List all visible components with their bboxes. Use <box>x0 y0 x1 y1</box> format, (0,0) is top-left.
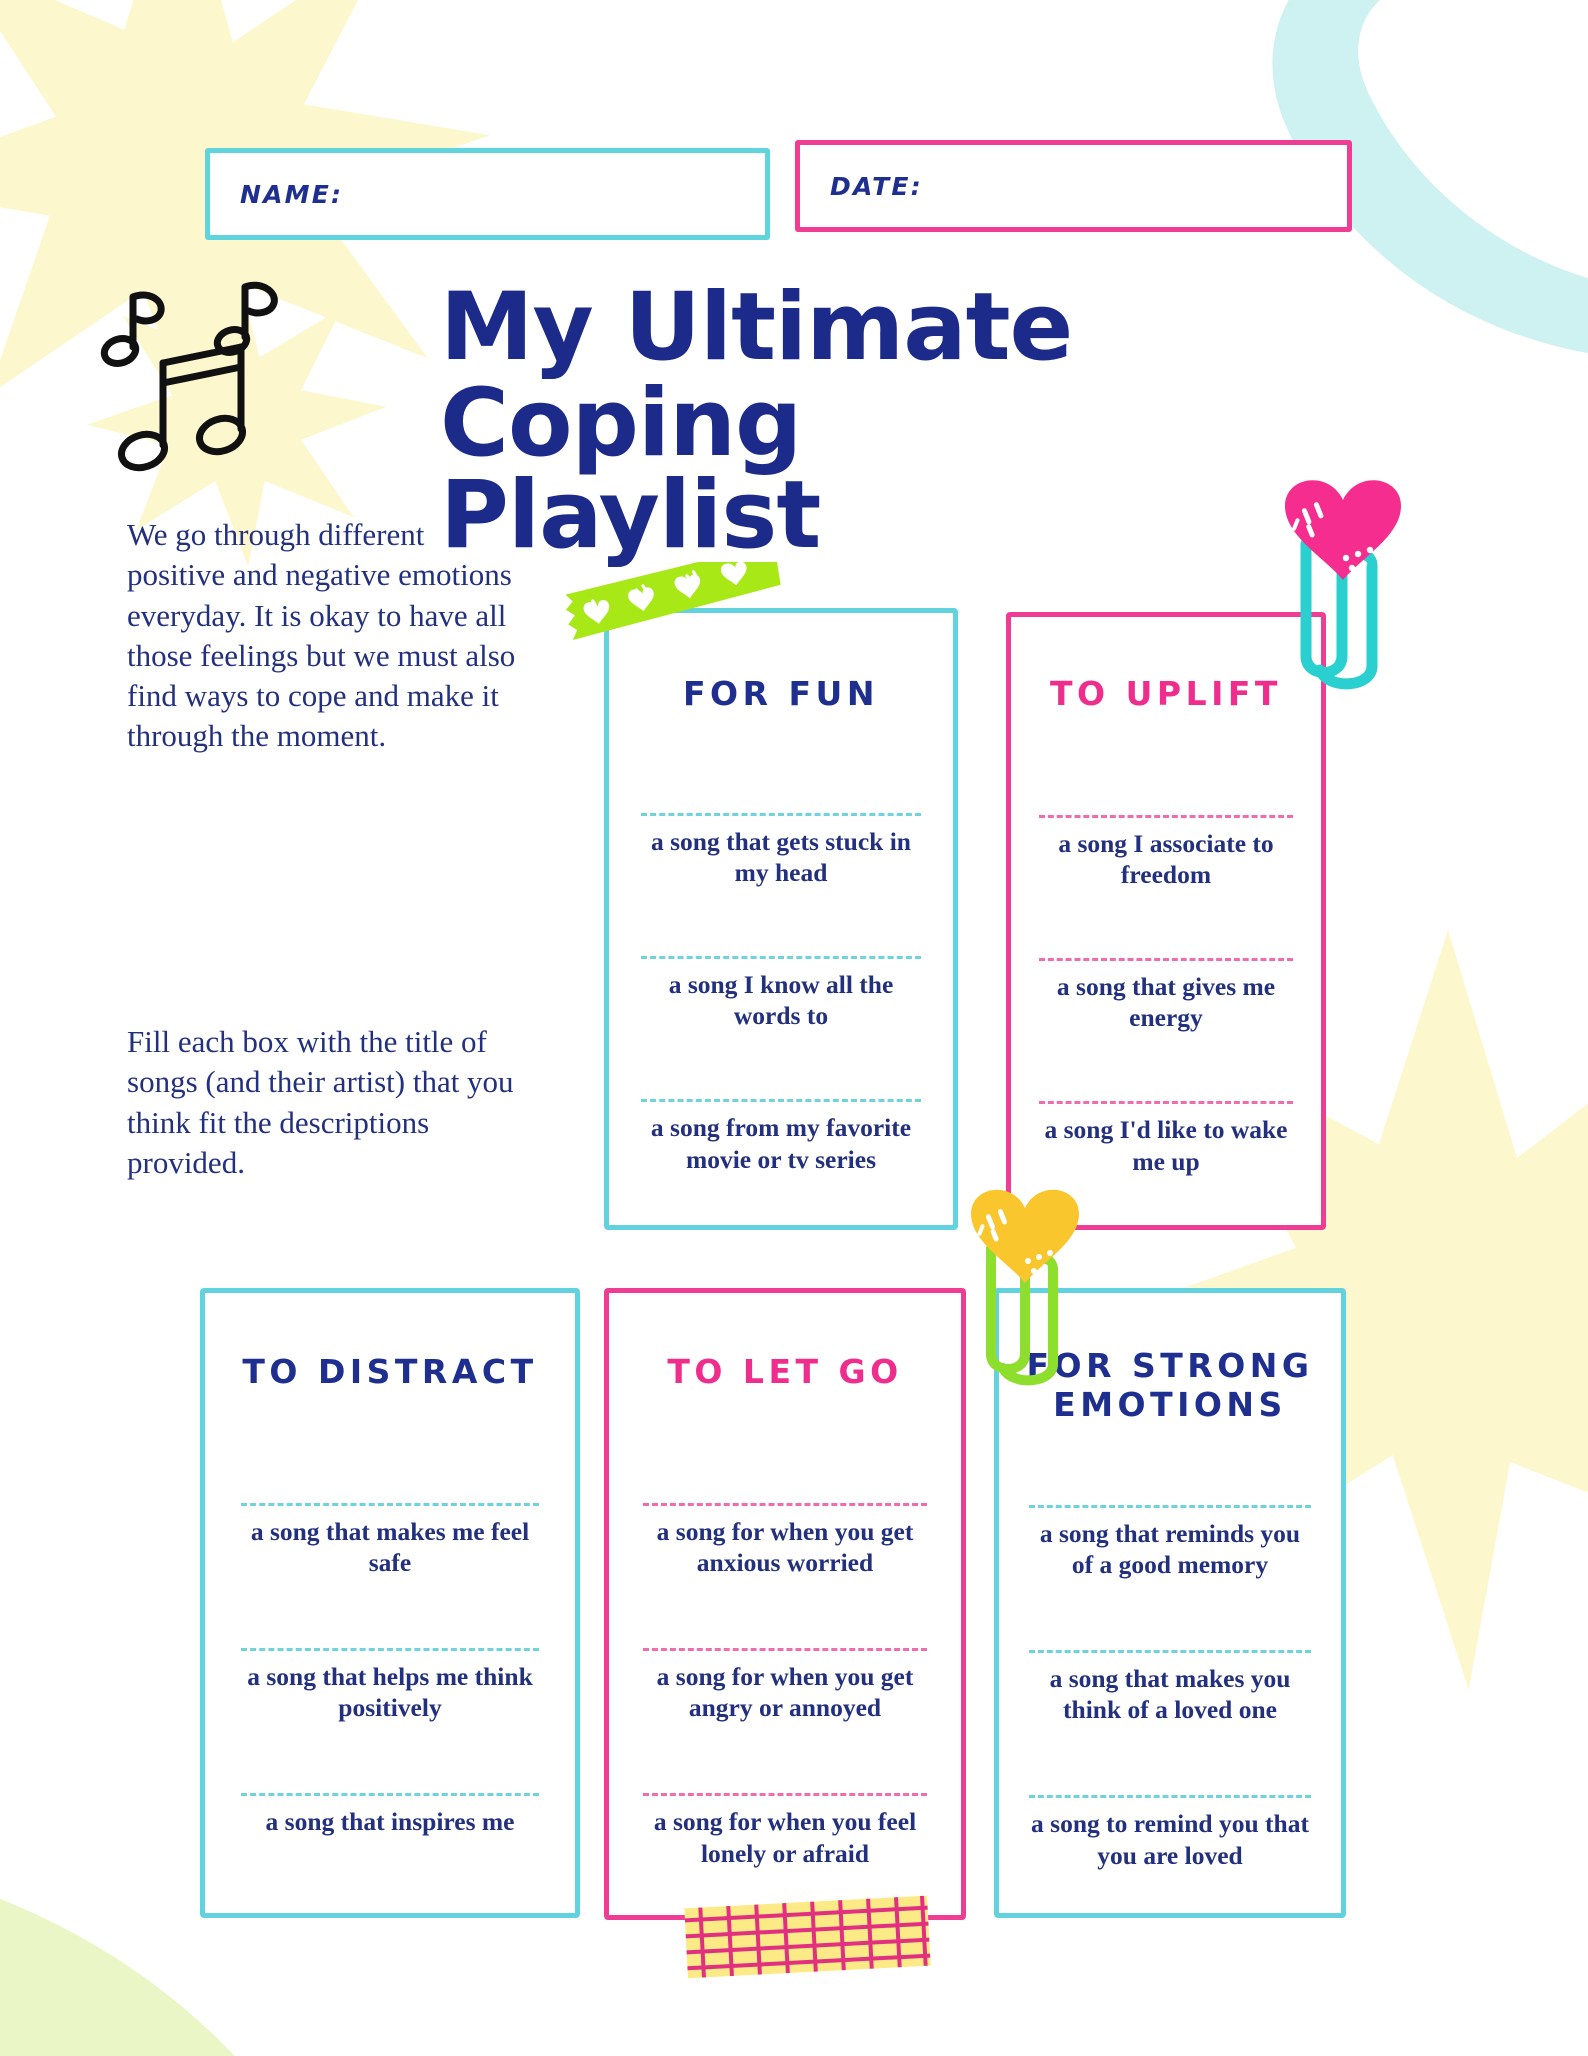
entry-row[interactable]: a song from my favorite movie or tv seri… <box>641 1099 921 1174</box>
card-title-for-fun: FOR FUN <box>609 675 953 714</box>
entry-row[interactable]: a song to remind you that you are loved <box>1029 1795 1311 1870</box>
entry-row[interactable]: a song for when you get angry or annoyed <box>643 1648 927 1723</box>
entry-row[interactable]: a song that makes me feel safe <box>241 1503 539 1578</box>
entry-label: a song that makes you think of a loved o… <box>1029 1663 1311 1725</box>
name-label: NAME: <box>210 180 343 209</box>
card-for-fun: FOR FUN a song that gets stuck in my hea… <box>604 608 958 1230</box>
entry-write-line[interactable] <box>241 1648 539 1651</box>
entry-row[interactable]: a song that reminds you of a good memory <box>1029 1505 1311 1580</box>
entry-write-line[interactable] <box>643 1648 927 1651</box>
date-label: DATE: <box>800 172 923 201</box>
entry-write-line[interactable] <box>641 1099 921 1102</box>
entry-label: a song that helps me think positively <box>241 1661 539 1723</box>
intro-paragraph-1: We go through different positive and neg… <box>127 515 517 757</box>
entry-row[interactable]: a song I associate to freedom <box>1039 815 1293 890</box>
washi-tape-grid-icon <box>680 1890 935 1985</box>
date-field[interactable]: DATE: <box>795 140 1352 232</box>
entries-to-uplift: a song I associate to freedom a song tha… <box>1011 815 1321 1177</box>
heart-paperclip-yellow-icon <box>955 1176 1095 1391</box>
entries-to-distract: a song that makes me feel safe a song th… <box>205 1503 575 1838</box>
card-to-distract: TO DISTRACT a song that makes me feel sa… <box>200 1288 580 1918</box>
worksheet-page: NAME: DATE: My Ultimate Coping Playlist … <box>0 0 1588 2056</box>
card-title-to-let-go: TO LET GO <box>609 1353 961 1392</box>
entry-write-line[interactable] <box>643 1793 927 1796</box>
entry-write-line[interactable] <box>1029 1650 1311 1653</box>
washi-tape-hearts-icon <box>560 562 785 642</box>
entry-label: a song that makes me feel safe <box>241 1516 539 1578</box>
card-to-let-go: TO LET GO a song for when you get anxiou… <box>604 1288 966 1920</box>
entry-row[interactable]: a song for when you feel lonely or afrai… <box>643 1793 927 1868</box>
page-title: My Ultimate Coping Playlist <box>440 282 1200 562</box>
entry-label: a song from my favorite movie or tv seri… <box>641 1112 921 1174</box>
entry-label: a song that reminds you of a good memory <box>1029 1518 1311 1580</box>
entry-row[interactable]: a song that makes you think of a loved o… <box>1029 1650 1311 1725</box>
entries-for-strong-emotions: a song that reminds you of a good memory… <box>999 1505 1341 1871</box>
entry-label: a song for when you get anxious worried <box>643 1516 927 1578</box>
name-field[interactable]: NAME: <box>205 148 770 240</box>
entry-row[interactable]: a song that inspires me <box>241 1793 539 1837</box>
entry-label: a song for when you get angry or annoyed <box>643 1661 927 1723</box>
entries-to-let-go: a song for when you get anxious worried … <box>609 1503 961 1869</box>
entry-write-line[interactable] <box>1039 815 1293 818</box>
entry-write-line[interactable] <box>1029 1505 1311 1508</box>
card-title-to-distract: TO DISTRACT <box>205 1353 575 1392</box>
entry-row[interactable]: a song that gives me energy <box>1039 958 1293 1033</box>
entry-label: a song that inspires me <box>241 1806 539 1837</box>
entry-write-line[interactable] <box>241 1503 539 1506</box>
entry-label: a song I know all the words to <box>641 969 921 1031</box>
entry-label: a song for when you feel lonely or afrai… <box>643 1806 927 1868</box>
entry-label: a song to remind you that you are loved <box>1029 1808 1311 1870</box>
entry-write-line[interactable] <box>641 956 921 959</box>
entry-write-line[interactable] <box>241 1793 539 1796</box>
entry-row[interactable]: a song that gets stuck in my head <box>641 813 921 888</box>
entry-row[interactable]: a song that helps me think positively <box>241 1648 539 1723</box>
entry-label: a song that gets stuck in my head <box>641 826 921 888</box>
intro-paragraph-2: Fill each box with the title of songs (a… <box>127 1022 517 1183</box>
entry-write-line[interactable] <box>1039 1101 1293 1104</box>
entry-label: a song I'd like to wake me up <box>1039 1114 1293 1176</box>
entry-label: a song I associate to freedom <box>1039 828 1293 890</box>
heart-paperclip-pink-icon <box>1268 466 1418 696</box>
entry-write-line[interactable] <box>643 1503 927 1506</box>
card-to-uplift: TO UPLIFT a song I associate to freedom … <box>1006 612 1326 1230</box>
entry-label: a song that gives me energy <box>1039 971 1293 1033</box>
entry-row[interactable]: a song I know all the words to <box>641 956 921 1031</box>
entries-for-fun: a song that gets stuck in my head a song… <box>609 813 953 1175</box>
entry-write-line[interactable] <box>1029 1795 1311 1798</box>
music-notes-icon <box>85 275 325 495</box>
entry-write-line[interactable] <box>1039 958 1293 961</box>
title-line-2: Coping Playlist <box>440 378 1200 562</box>
entry-write-line[interactable] <box>641 813 921 816</box>
title-line-1: My Ultimate <box>440 282 1200 374</box>
entry-row[interactable]: a song I'd like to wake me up <box>1039 1101 1293 1176</box>
entry-row[interactable]: a song for when you get anxious worried <box>643 1503 927 1578</box>
